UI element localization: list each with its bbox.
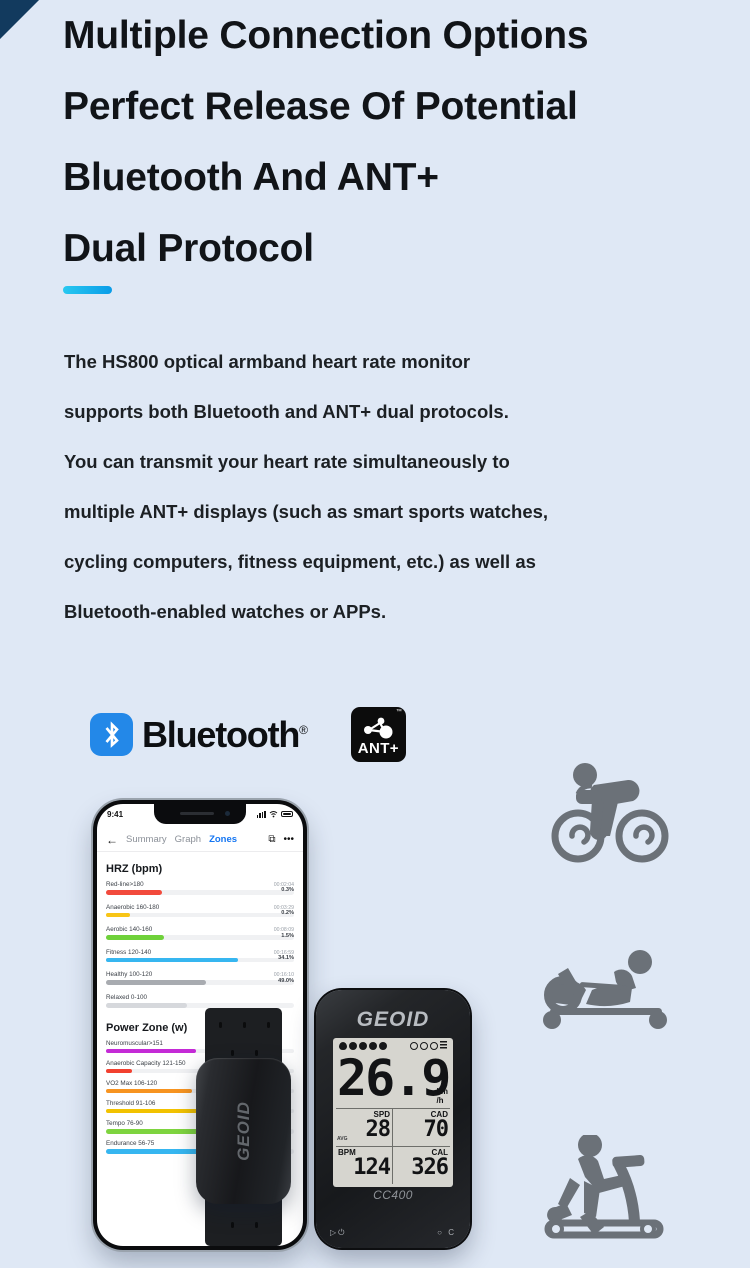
lcd-field-cad: CAD 70 xyxy=(393,1109,450,1147)
hrz-zone-name: Relaxed 0-100 xyxy=(106,994,147,1001)
treadmill-icon xyxy=(534,1135,666,1243)
body-line-5: cycling computers, fitness equipment, et… xyxy=(64,537,724,587)
hrz-zone-row-header: Red-line>18000:02:04 xyxy=(106,881,294,888)
cyclo-lcd-screen: 26.9 km /h SPD 28 AVG CAD 70 BPM 124 CAL xyxy=(333,1038,453,1187)
cyclo-left-button-group[interactable]: ▷⏻ xyxy=(330,1228,376,1238)
more-options-icon[interactable]: ••• xyxy=(283,834,294,845)
power-zone-name: Endurance 56-75 xyxy=(106,1140,154,1147)
hrz-zone-track xyxy=(106,890,294,895)
lcd-field-cal-value: 326 xyxy=(395,1156,448,1179)
power-zone-name: Neuromuscular>151 xyxy=(106,1040,163,1047)
lcd-field-bpm-value: 124 xyxy=(338,1156,390,1179)
hrz-zone-name: Fitness 120-140 xyxy=(106,949,151,956)
hrz-zone-percent: 1.5% xyxy=(281,933,294,939)
hrz-zone-row: Fitness 120-14000:16:5934.1% xyxy=(106,949,294,963)
hrz-zone-name: Anaerobic 160-180 xyxy=(106,904,159,911)
speed-unit-label: km /h xyxy=(436,1088,448,1105)
armband-brand-label: GEOID xyxy=(234,1101,254,1161)
hrz-zone-fill xyxy=(106,890,162,895)
power-zone-fill xyxy=(106,1049,196,1054)
body-line-2: supports both Bluetooth and ANT+ dual pr… xyxy=(64,387,724,437)
hrz-zone-fill xyxy=(106,980,206,985)
hrz-zone-row: Aerobic 140-16000:08:091.5% xyxy=(106,926,294,940)
lcd-field-spd: SPD 28 AVG xyxy=(336,1109,393,1147)
tab-zones[interactable]: Zones xyxy=(209,834,237,845)
hrz-zone-row: Red-line>18000:02:040.3% xyxy=(106,881,294,895)
protocol-logos: Bluetooth® ™ ANT+ xyxy=(90,707,406,762)
back-arrow-icon[interactable]: ← xyxy=(106,833,118,847)
status-icons xyxy=(257,810,293,818)
hrz-zone-row-header: Fitness 120-14000:16:59 xyxy=(106,949,294,956)
ant-plus-logo: ™ ANT+ xyxy=(351,707,406,762)
lap-back-glyphs: ○ C xyxy=(410,1228,456,1238)
tab-summary[interactable]: Summary xyxy=(126,834,167,845)
hrz-zone-percent: 34.1% xyxy=(278,955,294,961)
hrz-zone-row: Relaxed 0-100 xyxy=(106,994,294,1008)
earpiece-speaker xyxy=(180,812,214,815)
cyclo-right-button-group[interactable]: ○ C xyxy=(410,1228,456,1238)
cyclo-button-row: ▷⏻ ○ C xyxy=(330,1228,456,1238)
rowing-machine-icon xyxy=(536,950,668,1036)
corner-wedge xyxy=(0,0,42,42)
cycling-icon xyxy=(548,758,670,864)
hrz-zone-fill xyxy=(106,935,164,940)
body-line-6: Bluetooth-enabled watches or APPs. xyxy=(64,587,724,637)
hrz-zone-row-header: Relaxed 0-100 xyxy=(106,994,294,1001)
headline-line-3: Bluetooth And ANT+ xyxy=(63,142,723,213)
wifi-icon xyxy=(269,810,278,818)
hrz-zone-row-header: Aerobic 140-16000:08:09 xyxy=(106,926,294,933)
hrz-zone-row-header: Anaerobic 160-18000:03:29 xyxy=(106,904,294,911)
lcd-field-cad-value: 70 xyxy=(395,1118,448,1141)
lcd-field-spd-sub: AVG xyxy=(337,1136,347,1142)
hrz-zone-track xyxy=(106,1003,294,1008)
hrz-zone-percent: 0.3% xyxy=(281,887,294,893)
hrz-zone-name: Red-line>180 xyxy=(106,881,144,888)
lcd-primary-readout: 26.9 km /h xyxy=(336,1051,450,1109)
headline-line-1: Multiple Connection Options xyxy=(63,0,723,71)
status-time: 9:41 xyxy=(107,810,123,819)
lcd-field-bpm: BPM 124 xyxy=(336,1147,393,1185)
power-zone-name: Tempo 76-90 xyxy=(106,1120,143,1127)
front-camera xyxy=(225,811,230,816)
power-zone-name: VO2 Max 106-120 xyxy=(106,1080,157,1087)
cycling-computer-device: GEOID 26.9 km /h xyxy=(316,990,470,1248)
current-speed-value: 26.9 xyxy=(337,1050,449,1106)
phone-notch xyxy=(154,804,246,824)
hrz-section-title: HRZ (bpm) xyxy=(106,863,294,875)
bluetooth-icon xyxy=(90,713,133,756)
hrz-zone-row: Healthy 100-12000:16:1049.0% xyxy=(106,971,294,985)
cyclo-brand-label: GEOID xyxy=(316,1008,470,1032)
cellular-signal-icon xyxy=(257,811,266,818)
bluetooth-logo: Bluetooth® xyxy=(90,713,307,756)
ant-plus-wordmark: ANT+ xyxy=(351,740,406,757)
app-tab-bar: ← Summary Graph Zones ⧉ ••• xyxy=(97,828,303,852)
power-zone-fill xyxy=(106,1089,192,1094)
hrz-zone-row: Anaerobic 160-18000:03:290.2% xyxy=(106,904,294,918)
bluetooth-wordmark: Bluetooth® xyxy=(142,714,307,756)
battery-icon xyxy=(281,811,293,817)
hrz-zone-fill xyxy=(106,913,130,918)
hrz-zone-fill xyxy=(106,958,238,963)
hrz-zone-fill xyxy=(106,1003,187,1008)
hrz-zone-track xyxy=(106,980,294,985)
page-title: Multiple Connection Options Perfect Rele… xyxy=(63,0,723,284)
hrz-zone-list: Red-line>18000:02:040.3%Anaerobic 160-18… xyxy=(106,881,294,1008)
hrz-zone-name: Aerobic 140-160 xyxy=(106,926,152,933)
accent-divider xyxy=(63,286,112,294)
body-line-3: You can transmit your heart rate simulta… xyxy=(64,437,724,487)
share-icon[interactable]: ⧉ xyxy=(268,834,275,845)
body-line-1: The HS800 optical armband heart rate mon… xyxy=(64,337,724,387)
lcd-field-cal: CAL 326 xyxy=(393,1147,450,1185)
registered-mark: ® xyxy=(299,723,307,737)
power-zone-name: Threshold 91-106 xyxy=(106,1100,155,1107)
hrz-zone-row-header: Healthy 100-12000:16:10 xyxy=(106,971,294,978)
hrz-zone-track xyxy=(106,935,294,940)
power-zone-fill xyxy=(106,1069,132,1074)
hrz-zone-name: Healthy 100-120 xyxy=(106,971,152,978)
hrz-zone-percent: 0.2% xyxy=(281,910,294,916)
body-line-4: multiple ANT+ displays (such as smart sp… xyxy=(64,487,724,537)
headline-line-4: Dual Protocol xyxy=(63,213,723,284)
tab-graph[interactable]: Graph xyxy=(175,834,201,845)
hrz-zone-track xyxy=(106,958,294,963)
hrz-zone-percent: 49.0% xyxy=(278,978,294,984)
play-power-glyphs: ▷⏻ xyxy=(330,1228,376,1238)
lcd-metric-grid: SPD 28 AVG CAD 70 BPM 124 CAL 326 xyxy=(336,1108,450,1184)
armband-heart-rate-monitor: GEOID xyxy=(196,1008,291,1246)
description-paragraph: The HS800 optical armband heart rate mon… xyxy=(64,337,724,637)
power-zone-name: Anaerobic Capacity 121-150 xyxy=(106,1060,185,1067)
headline-line-2: Perfect Release Of Potential xyxy=(63,71,723,142)
hrz-zone-track xyxy=(106,913,294,918)
armband-sensor-pod: GEOID xyxy=(196,1058,291,1204)
cyclo-model-label: CC400 xyxy=(316,1188,470,1202)
